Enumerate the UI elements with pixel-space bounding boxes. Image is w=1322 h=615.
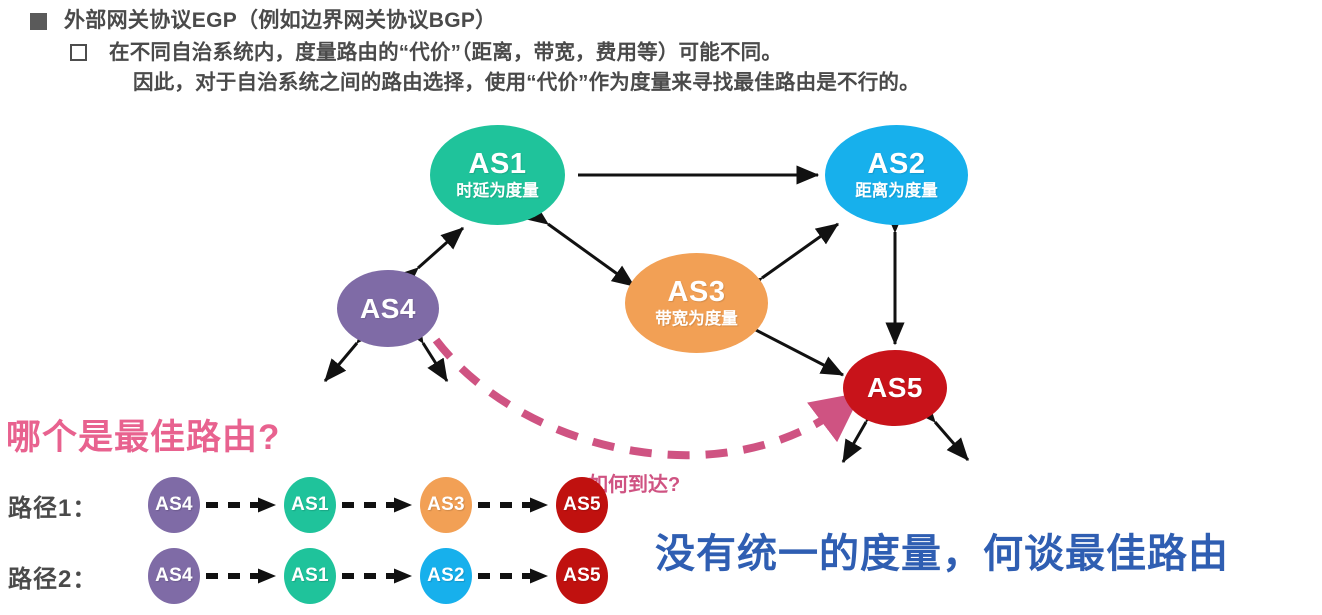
slide-root: 外部网关协议EGP（例如边界网关协议BGP） 在不同自治系统内，度量路由的“代价… (0, 0, 1322, 615)
header-bullet-1-text: 外部网关协议EGP（例如边界网关协议BGP） (64, 6, 496, 36)
hollow-square-bullet-icon (70, 44, 87, 61)
path-2-arrow-2 (336, 564, 420, 588)
filled-square-bullet-icon (30, 13, 47, 30)
node-as2-subtitle: 距离为度量 (855, 182, 938, 201)
path-2-arrow-3 (472, 564, 556, 588)
path-1-node-as4[interactable]: AS4 (148, 477, 200, 533)
link-as4-as1 (418, 228, 463, 268)
diagram-node-as4[interactable]: AS4 (337, 270, 439, 347)
path-2-arrow-1 (200, 564, 284, 588)
link-as3-as2 (762, 224, 838, 278)
link-as3-as5 (752, 328, 843, 375)
diagram-node-as2[interactable]: AS2 距离为度量 (825, 125, 968, 225)
link-as1-as3 (548, 224, 634, 286)
node-as2-name: AS2 (868, 149, 926, 179)
header-bullet-2-line1: 在不同自治系统内，度量路由的“代价”（距离，带宽，费用等）可能不同。 (109, 38, 920, 68)
diagram-node-as1[interactable]: AS1 时延为度量 (430, 125, 565, 225)
node-as1-subtitle: 时延为度量 (456, 182, 539, 201)
path-1-arrow-1 (200, 493, 284, 517)
path-1-arrow-3 (472, 493, 556, 517)
header-bullet-2: 在不同自治系统内，度量路由的“代价”（距离，带宽，费用等）可能不同。 因此，对于… (70, 38, 920, 98)
path-1-node-as5[interactable]: AS5 (556, 477, 608, 533)
path-row-2: 路径2： AS4 AS1 AS2 AS5 (8, 545, 608, 607)
path-row-1: 路径1： AS4 AS1 AS3 AS5 (8, 474, 608, 536)
stub-as5-right (935, 422, 968, 460)
node-as5-name: AS5 (867, 373, 923, 402)
header-bullet-2-text: 在不同自治系统内，度量路由的“代价”（距离，带宽，费用等）可能不同。 因此，对于… (109, 38, 920, 98)
path-1-arrow-2 (336, 493, 420, 517)
path-2-node-as1[interactable]: AS1 (284, 548, 336, 604)
node-as3-name: AS3 (668, 277, 726, 307)
conclusion-text: 没有统一的度量，何谈最佳路由 (655, 521, 1229, 579)
best-route-question: 哪个是最佳路由? (6, 409, 280, 460)
path-2-node-as5[interactable]: AS5 (556, 548, 608, 604)
node-as4-name: AS4 (360, 294, 416, 323)
path-1-node-as1[interactable]: AS1 (284, 477, 336, 533)
diagram-node-as5[interactable]: AS5 (843, 350, 947, 426)
header-bullet-1: 外部网关协议EGP（例如边界网关协议BGP） (30, 6, 496, 36)
stub-as4-left (325, 343, 357, 381)
path-2-label: 路径2： (8, 559, 148, 594)
node-as3-subtitle: 带宽为度量 (655, 310, 738, 329)
stub-as5-left (843, 422, 866, 462)
path-1-node-as3[interactable]: AS3 (420, 477, 472, 533)
link-as4-as5-dashed (436, 340, 845, 455)
node-as1-name: AS1 (469, 149, 527, 179)
path-1-label: 路径1： (8, 488, 148, 523)
header-bullet-2-line2: 因此，对于自治系统之间的路由选择，使用“代价”作为度量来寻找最佳路由是不行的。 (133, 68, 920, 98)
path-2-node-as4[interactable]: AS4 (148, 548, 200, 604)
diagram-node-as3[interactable]: AS3 带宽为度量 (625, 253, 768, 353)
path-2-node-as2[interactable]: AS2 (420, 548, 472, 604)
